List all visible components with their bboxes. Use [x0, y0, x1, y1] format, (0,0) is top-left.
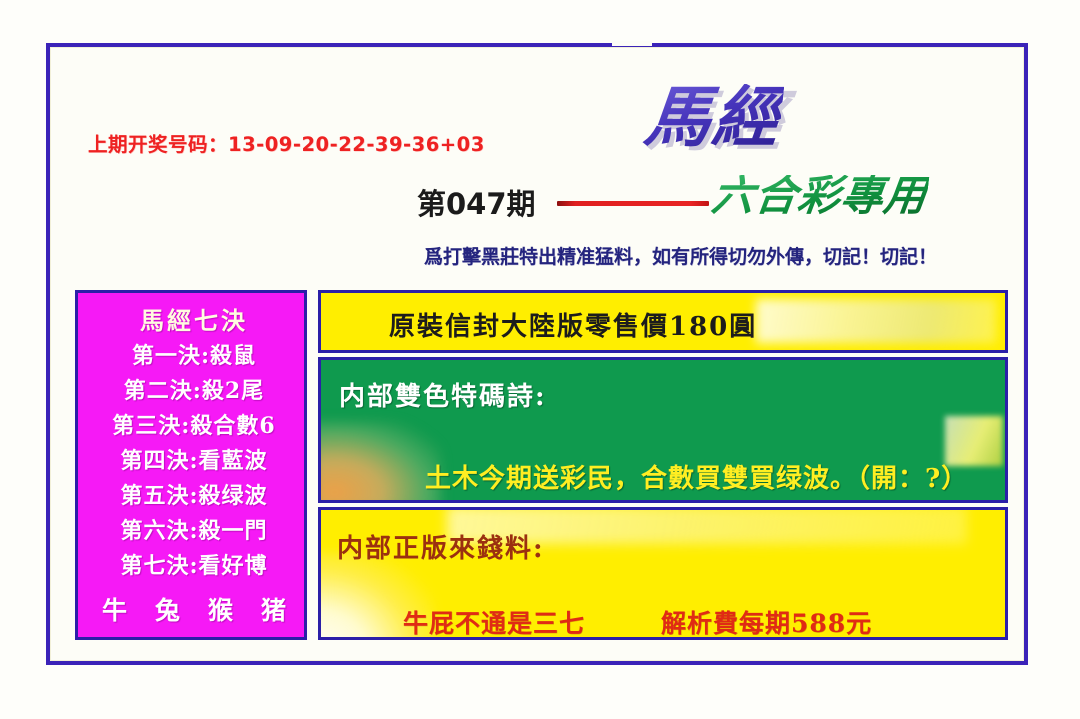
last-draw-numbers: 上期开奖号码：13-09-20-22-39-36+03	[88, 128, 485, 157]
frame-top-notch	[612, 41, 652, 46]
list-item: 第三決:殺合數6	[78, 409, 307, 444]
verdict-list: 第一決:殺鼠 第二決:殺2尾 第三決:殺合數6 第四決:看藍波 第五決:殺绿波 …	[78, 339, 307, 584]
green-panel-glare-left	[318, 422, 441, 503]
seven-verdicts-title: 馬經七決	[78, 301, 307, 336]
list-item: 第二決:殺2尾	[78, 374, 307, 409]
zodiac-animals-row: 牛 兔 猴 猪	[78, 591, 307, 627]
poem-text: 土木今期送彩民，合數買雙買绿波。（開：?）	[425, 458, 968, 495]
zodiac-animal: 牛	[102, 591, 127, 627]
money-tip-left: 牛屁不通是三七	[403, 604, 585, 640]
list-item: 第一決:殺鼠	[78, 339, 307, 374]
logo-title: 馬經	[642, 84, 785, 150]
lottery-poster: 上期开奖号码：13-09-20-22-39-36+03 馬經 馬經 第047期 …	[0, 0, 1080, 719]
retail-price-banner: 原裝信封大陸版零售價180圓	[318, 290, 1008, 353]
poem-panel-heading: 内部雙色特碼詩:	[339, 376, 547, 413]
issue-number: 第047期	[417, 181, 536, 223]
logo-subtitle: 六合彩專用	[709, 175, 929, 217]
seven-verdicts-panel: 馬經七決 第一決:殺鼠 第二決:殺2尾 第三決:殺合數6 第四決:看藍波 第五決…	[75, 290, 307, 640]
money-tips-panel: 内部正版來錢料: 牛屁不通是三七 解析費每期588元	[318, 507, 1008, 640]
list-item: 第五決:殺绿波	[78, 479, 307, 514]
red-divider-rule	[557, 201, 709, 206]
tagline-text: 爲打擊黑莊特出精准猛料，如有所得切勿外傳，切記！切記！	[424, 242, 937, 269]
zodiac-animal: 猴	[208, 591, 233, 627]
list-item: 第四決:看藍波	[78, 444, 307, 479]
retail-price-text: 原裝信封大陸版零售價180圓	[389, 306, 757, 343]
list-item: 第七決:看好博	[78, 549, 307, 584]
zodiac-animal: 猪	[261, 591, 286, 627]
special-code-poem-panel: 内部雙色特碼詩: 土木今期送彩民，合數買雙買绿波。（開：?）	[318, 357, 1008, 503]
money-fee-right: 解析費每期588元	[661, 604, 872, 640]
money-panel-heading: 内部正版來錢料:	[337, 528, 545, 565]
zodiac-animal: 兔	[155, 591, 180, 627]
banner-washout-overlay	[756, 299, 996, 343]
list-item: 第六決:殺一門	[78, 514, 307, 549]
